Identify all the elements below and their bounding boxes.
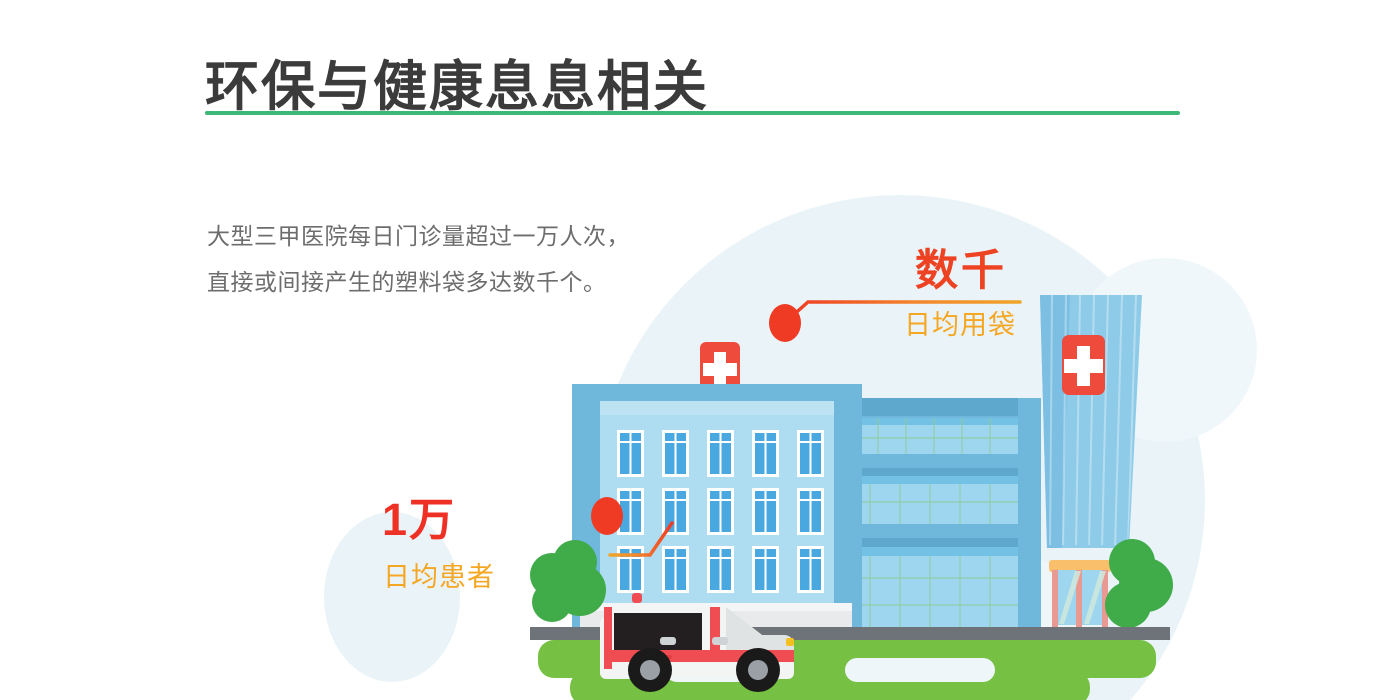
tower-entrance-door [1049, 560, 1111, 628]
bush-left [530, 540, 606, 622]
callout-label-patients: 日均患者 [383, 562, 495, 592]
callout-dot-bags [769, 304, 801, 342]
tower-cross-sign [1062, 335, 1105, 395]
hospital-illustration: 数千 日均用袋 1万 日均患者 [280, 150, 1280, 700]
mid-rise-building [836, 398, 1041, 632]
callout-label-bags: 日均用袋 [904, 310, 1016, 340]
title-underline-rule [205, 111, 1180, 115]
callout-value-bags: 数千 [915, 247, 1007, 295]
main-hospital-building [572, 342, 862, 632]
page-title: 环保与健康息息相关 [205, 58, 709, 117]
infographic-page: 环保与健康息息相关 大型三甲医院每日门诊量超过一万人次，直接或间接产生的塑料袋多… [0, 0, 1400, 700]
callout-value-patients: 1万 [382, 494, 456, 545]
callout-dot-patients [591, 497, 623, 535]
